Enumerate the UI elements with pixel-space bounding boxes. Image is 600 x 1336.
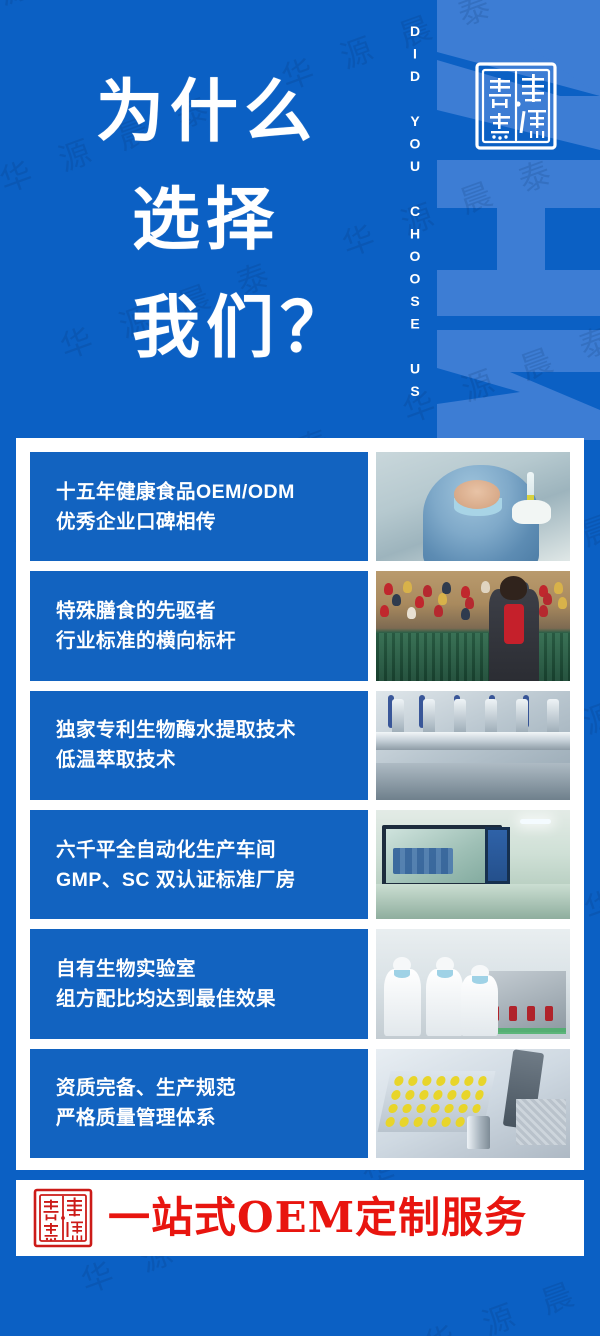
feature-photo-cleanroom-corridor <box>376 810 570 919</box>
feature-text-cell: 自有生物实验室 组方配比均达到最佳效果 <box>30 929 368 1038</box>
feature-photo-blister-pack-tablets <box>376 1049 570 1158</box>
poster-root: 华 源 晨 泰 华 源 晨 泰 华 源 晨 泰 华 源 晨 泰 华 源 晨 泰 … <box>0 0 600 1336</box>
feature-row: 六千平全自动化生产车间 GMP、SC 双认证标准厂房 <box>30 810 570 919</box>
bottom-cta-banner: 一站式OEM定制服务 <box>16 1180 584 1256</box>
feature-line-1: 特殊膳食的先驱者 <box>56 596 358 626</box>
feature-text-cell: 独家专利生物酶水提取技术 低温萃取技术 <box>30 691 368 800</box>
feature-photo-conference-audience-red-scarves <box>376 571 570 680</box>
feature-row: 特殊膳食的先驱者 行业标准的横向标杆 <box>30 571 570 680</box>
watermark-text: 华 源 晨 泰 <box>583 903 600 1172</box>
features-panel: 十五年健康食品OEM/ODM 优秀企业口碑相传 特殊膳食的先驱者 行业标准的横向… <box>16 438 584 1170</box>
feature-text-cell: 十五年健康食品OEM/ODM 优秀企业口碑相传 <box>30 452 368 561</box>
feature-row: 资质完备、生产规范 严格质量管理体系 <box>30 1049 570 1158</box>
page-title: 为什么 选择 我们？ <box>96 58 386 382</box>
feature-photo-lab-technician-test-tube <box>376 452 570 561</box>
feature-line-1: 自有生物实验室 <box>56 954 358 984</box>
feature-line-1: 资质完备、生产规范 <box>56 1073 358 1103</box>
bottom-banner-headline: 一站式OEM定制服务 <box>108 1197 527 1239</box>
poster-header: 为什么 选择 我们？ DID YOU CHOOSE US <box>0 0 600 438</box>
feature-row: 自有生物实验室 组方配比均达到最佳效果 <box>30 929 570 1038</box>
title-line-3: 我们？ <box>96 274 386 382</box>
feature-row: 十五年健康食品OEM/ODM 优秀企业口碑相传 <box>30 452 570 561</box>
feature-photo-liquid-filling-machinery <box>376 691 570 800</box>
feature-line-2: 优秀企业口碑相传 <box>56 507 358 537</box>
watermark-text: 华 源 晨 泰 <box>79 1275 421 1336</box>
feature-line-1: 独家专利生物酶水提取技术 <box>56 715 358 745</box>
title-line-2: 选择 <box>96 166 386 274</box>
title-line-1: 为什么 <box>96 58 386 166</box>
feature-line-2: 行业标准的横向标杆 <box>56 626 358 656</box>
feature-line-1: 六千平全自动化生产车间 <box>56 835 358 865</box>
feature-row: 独家专利生物酶水提取技术 低温萃取技术 <box>30 691 570 800</box>
feature-text-cell: 资质完备、生产规范 严格质量管理体系 <box>30 1049 368 1158</box>
feature-line-1: 十五年健康食品OEM/ODM <box>56 477 358 507</box>
feature-line-2: 低温萃取技术 <box>56 745 358 775</box>
feature-text-cell: 六千平全自动化生产车间 GMP、SC 双认证标准厂房 <box>30 810 368 919</box>
brand-seal-red-icon <box>32 1187 94 1249</box>
feature-text-cell: 特殊膳食的先驱者 行业标准的横向标杆 <box>30 571 368 680</box>
brand-seal-white-icon <box>472 58 560 154</box>
feature-line-2: GMP、SC 双认证标准厂房 <box>56 865 358 895</box>
feature-photo-lab-workers-production-line <box>376 929 570 1038</box>
vertical-english-text: DID YOU CHOOSE US <box>407 23 423 406</box>
feature-line-2: 组方配比均达到最佳效果 <box>56 984 358 1014</box>
feature-line-2: 严格质量管理体系 <box>56 1103 358 1133</box>
vertical-english-tagline: DID YOU CHOOSE US <box>400 28 430 400</box>
